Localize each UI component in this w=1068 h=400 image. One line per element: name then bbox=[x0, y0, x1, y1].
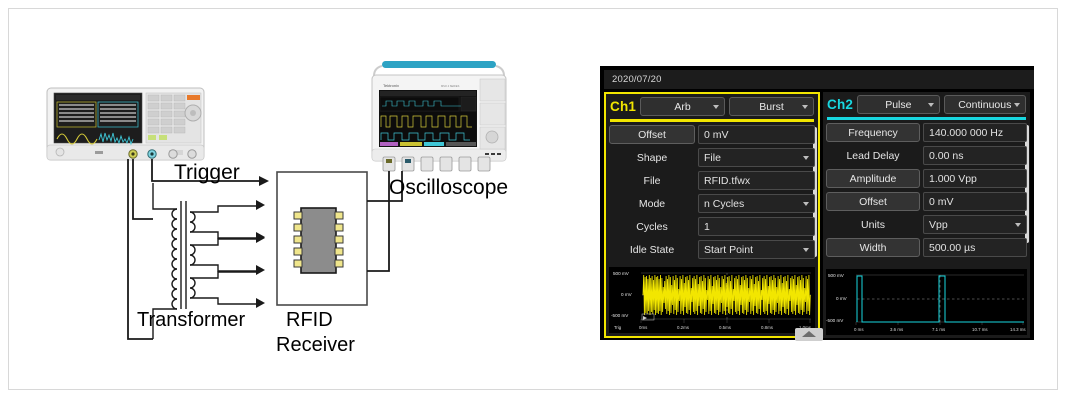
ch2-function-select[interactable]: Pulse bbox=[857, 95, 939, 114]
page-frame: Tektronix MSO 4 SERIES bbox=[8, 8, 1058, 390]
svg-text:Tektronix: Tektronix bbox=[383, 83, 399, 88]
ch1-accent-underline bbox=[610, 119, 814, 122]
function-generator-image bbox=[47, 88, 204, 160]
table-row[interactable]: Shape File bbox=[609, 147, 815, 169]
table-row[interactable]: Frequency 140.000 000 Hz bbox=[826, 122, 1027, 144]
ch1-row-5-label: Idle State bbox=[609, 240, 695, 259]
table-row[interactable]: Width 500.00 µs bbox=[826, 237, 1027, 259]
afg-date: 2020/07/20 bbox=[612, 74, 662, 85]
ch2-y-max: 500 mV bbox=[828, 273, 845, 278]
ch2-parameter-list: Frequency 140.000 000 Hz Lead Delay 0.00… bbox=[823, 122, 1030, 259]
chevron-down-icon bbox=[928, 103, 934, 107]
ch1-row-1-label: Shape bbox=[609, 148, 695, 167]
table-row[interactable]: Offset 0 mV bbox=[609, 124, 815, 146]
ch2-row-0-value[interactable]: 140.000 000 Hz bbox=[923, 123, 1027, 142]
ch1-name: Ch1 bbox=[610, 99, 636, 114]
ch2-accent-underline bbox=[827, 117, 1026, 120]
ch1-row-2-label: File bbox=[609, 171, 695, 190]
ch2-row-5-value[interactable]: 500.00 µs bbox=[923, 238, 1027, 257]
ch2-function-value: Pulse bbox=[885, 99, 911, 111]
ch1-y-min: -500 mV bbox=[611, 313, 629, 318]
ch1-waveform-preview: 500 mV 0 mV -500 mV Trig bbox=[609, 267, 815, 333]
table-row[interactable]: Cycles 1 bbox=[609, 216, 815, 238]
afg-status-bar: 2020/07/20 bbox=[604, 70, 1034, 89]
table-row[interactable]: Idle State Start Point bbox=[609, 239, 815, 261]
ch1-scrollbar[interactable] bbox=[813, 127, 817, 257]
ch2-x-3: 10.7 ms bbox=[972, 327, 988, 332]
ch2-row-2-label[interactable]: Amplitude bbox=[826, 169, 920, 188]
ch1-x-0: 0ms bbox=[639, 325, 648, 330]
ch1-row-0-label[interactable]: Offset bbox=[609, 125, 695, 144]
ch2-row-4-value[interactable]: Vpp bbox=[923, 215, 1027, 234]
ch2-row-3-value[interactable]: 0 mV bbox=[923, 192, 1027, 211]
chevron-down-icon bbox=[713, 105, 719, 109]
ch2-runmode-select[interactable]: Continuous bbox=[944, 95, 1026, 114]
chevron-down-icon bbox=[1015, 223, 1021, 227]
ch2-name: Ch2 bbox=[827, 97, 853, 112]
chevron-down-icon bbox=[803, 202, 809, 206]
chevron-down-icon bbox=[1014, 103, 1020, 107]
ch1-row-0-value[interactable]: 0 mV bbox=[698, 125, 815, 144]
chevron-down-icon bbox=[803, 156, 809, 160]
ch1-trig-label: Trig bbox=[614, 325, 622, 330]
ch1-function-select[interactable]: Arb bbox=[640, 97, 725, 116]
ch1-runmode-value: Burst bbox=[759, 101, 784, 113]
ch1-row-3-label: Mode bbox=[609, 194, 695, 213]
oscilloscope-image: Tektronix MSO 4 SERIES bbox=[372, 61, 506, 171]
ch2-runmode-value: Continuous bbox=[958, 99, 1011, 111]
ch1-row-2-value[interactable]: RFID.tfwx bbox=[698, 171, 815, 190]
table-row[interactable]: Offset 0 mV bbox=[826, 191, 1027, 213]
ch2-x-0: 0 ms bbox=[854, 327, 864, 332]
table-row[interactable]: Lead Delay 0.00 ns bbox=[826, 145, 1027, 167]
ch2-row-2-value[interactable]: 1.000 Vpp bbox=[923, 169, 1027, 188]
setup-diagram: Tektronix MSO 4 SERIES bbox=[9, 9, 589, 391]
panel-resize-grip[interactable] bbox=[795, 328, 823, 341]
ch1-function-value: Arb bbox=[674, 101, 690, 113]
ch1-parameter-list: Offset 0 mV Shape File File RFID.tfwx Mo… bbox=[606, 124, 818, 261]
channel-panel-ch2[interactable]: Ch2 Pulse Continuous Frequency 140.000 0… bbox=[823, 92, 1030, 338]
ch2-row-0-label[interactable]: Frequency bbox=[826, 123, 920, 142]
ch2-row-1-value[interactable]: 0.00 ns bbox=[923, 146, 1027, 165]
chevron-down-icon bbox=[803, 248, 809, 252]
ch1-y-max: 500 mV bbox=[613, 271, 630, 276]
ch2-header: Ch2 Pulse Continuous bbox=[823, 92, 1030, 117]
signal-arrows bbox=[256, 200, 265, 308]
ch1-x-2: 0.5ms bbox=[719, 325, 732, 330]
table-row[interactable]: Units Vpp bbox=[826, 214, 1027, 236]
ch2-waveform-preview: 500 mV 0 mV -500 mV bbox=[826, 269, 1027, 335]
table-row[interactable]: Amplitude 1.000 Vpp bbox=[826, 168, 1027, 190]
ch2-y-mid: 0 mV bbox=[836, 296, 848, 301]
ch1-x-3: 0.8ms bbox=[761, 325, 774, 330]
ch2-y-min: -500 mV bbox=[826, 318, 844, 323]
ch2-x-2: 7.1 ms bbox=[932, 327, 946, 332]
table-row[interactable]: Mode n Cycles bbox=[609, 193, 815, 215]
ch1-row-4-value[interactable]: 1 bbox=[698, 217, 815, 236]
label-trigger: Trigger bbox=[174, 161, 240, 185]
ch2-x-4: 14.3 ms bbox=[1010, 327, 1026, 332]
afg-screenshot: 2020/07/20 Ch1 Arb Burst Offset bbox=[600, 66, 1034, 340]
channel-panel-ch1[interactable]: Ch1 Arb Burst Offset 0 mV Shape bbox=[604, 92, 820, 338]
ch2-row-3-label[interactable]: Offset bbox=[826, 192, 920, 211]
ch2-row-4-label: Units bbox=[826, 215, 920, 234]
ch1-x-1: 0.2ms bbox=[677, 325, 690, 330]
ch1-row-5-value[interactable]: Start Point bbox=[698, 240, 815, 259]
ch1-row-4-label: Cycles bbox=[609, 217, 695, 236]
table-row[interactable]: File RFID.tfwx bbox=[609, 170, 815, 192]
ch2-row-5-label[interactable]: Width bbox=[826, 238, 920, 257]
label-receiver: Receiver bbox=[276, 334, 355, 357]
rfid-receiver-block bbox=[277, 172, 367, 305]
ch1-runmode-select[interactable]: Burst bbox=[729, 97, 814, 116]
svg-text:MSO 4 SERIES: MSO 4 SERIES bbox=[441, 84, 460, 88]
ch1-row-3-value[interactable]: n Cycles bbox=[698, 194, 815, 213]
ch1-y-mid: 0 mV bbox=[621, 292, 633, 297]
label-transformer: Transformer bbox=[137, 309, 245, 332]
label-rfid: RFID bbox=[286, 309, 333, 332]
ch2-x-1: 3.6 ms bbox=[890, 327, 904, 332]
chevron-down-icon bbox=[802, 105, 808, 109]
label-oscilloscope: Oscilloscope bbox=[389, 176, 508, 200]
ch2-row-1-label: Lead Delay bbox=[826, 146, 920, 165]
ch1-row-1-value[interactable]: File bbox=[698, 148, 815, 167]
trigger-arrowhead bbox=[259, 176, 269, 186]
ch1-header: Ch1 Arb Burst bbox=[606, 94, 818, 119]
